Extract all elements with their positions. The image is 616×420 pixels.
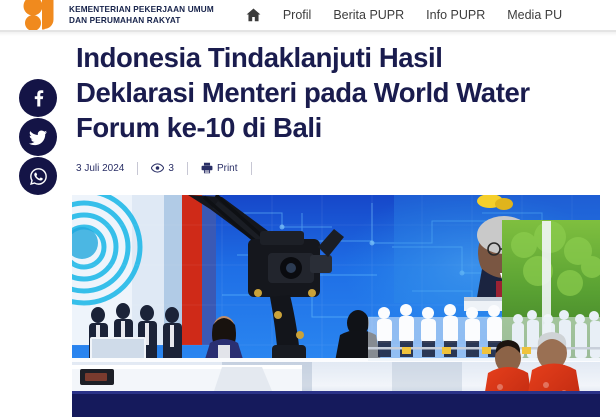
view-count: 3 bbox=[151, 163, 174, 174]
brand-line-2: DAN PERUMAHAN RAKYAT bbox=[69, 16, 181, 25]
nav-item-media-pu[interactable]: Media PU bbox=[507, 8, 562, 22]
social-share-rail bbox=[19, 79, 57, 195]
brand-line-1: KEMENTERIAN PEKERJAAN UMUM bbox=[69, 5, 214, 14]
print-label: Print bbox=[217, 163, 238, 174]
printer-icon bbox=[201, 162, 213, 174]
whatsapp-icon bbox=[29, 167, 48, 186]
header-shadow bbox=[0, 32, 616, 36]
facebook-icon bbox=[29, 89, 47, 107]
brand-name: KEMENTERIAN PEKERJAAN UMUM DAN PERUMAHAN… bbox=[69, 4, 214, 26]
pupr-logo-icon bbox=[22, 0, 60, 30]
twitter-icon bbox=[29, 128, 48, 147]
meta-divider-2 bbox=[187, 162, 188, 175]
article: Indonesia Tindaklanjuti Hasil Deklarasi … bbox=[76, 40, 604, 176]
site-header: KEMENTERIAN PEKERJAAN UMUM DAN PERUMAHAN… bbox=[0, 0, 616, 30]
article-meta: 3 Juli 2024 3 bbox=[76, 160, 604, 176]
meta-divider-1 bbox=[137, 162, 138, 175]
brand[interactable]: KEMENTERIAN PEKERJAAN UMUM DAN PERUMAHAN… bbox=[0, 0, 214, 30]
page-root: KEMENTERIAN PEKERJAAN UMUM DAN PERUMAHAN… bbox=[0, 0, 616, 420]
main-navigation: Profil Berita PUPR Info PUPR Media PU bbox=[246, 8, 562, 22]
share-facebook-button[interactable] bbox=[19, 79, 57, 117]
view-count-value: 3 bbox=[168, 163, 174, 174]
publish-date: 3 Juli 2024 bbox=[76, 163, 124, 174]
share-twitter-button[interactable] bbox=[19, 118, 57, 156]
meta-divider-3 bbox=[251, 162, 252, 175]
home-icon[interactable] bbox=[246, 8, 261, 22]
print-button[interactable]: Print bbox=[201, 162, 238, 174]
article-hero-photo bbox=[72, 195, 600, 417]
nav-item-info-pupr[interactable]: Info PUPR bbox=[426, 8, 485, 22]
nav-item-profil[interactable]: Profil bbox=[283, 8, 311, 22]
share-whatsapp-button[interactable] bbox=[19, 157, 57, 195]
eye-icon bbox=[151, 163, 164, 173]
nav-item-berita-pupr[interactable]: Berita PUPR bbox=[333, 8, 404, 22]
page-title: Indonesia Tindaklanjuti Hasil Deklarasi … bbox=[76, 40, 546, 145]
